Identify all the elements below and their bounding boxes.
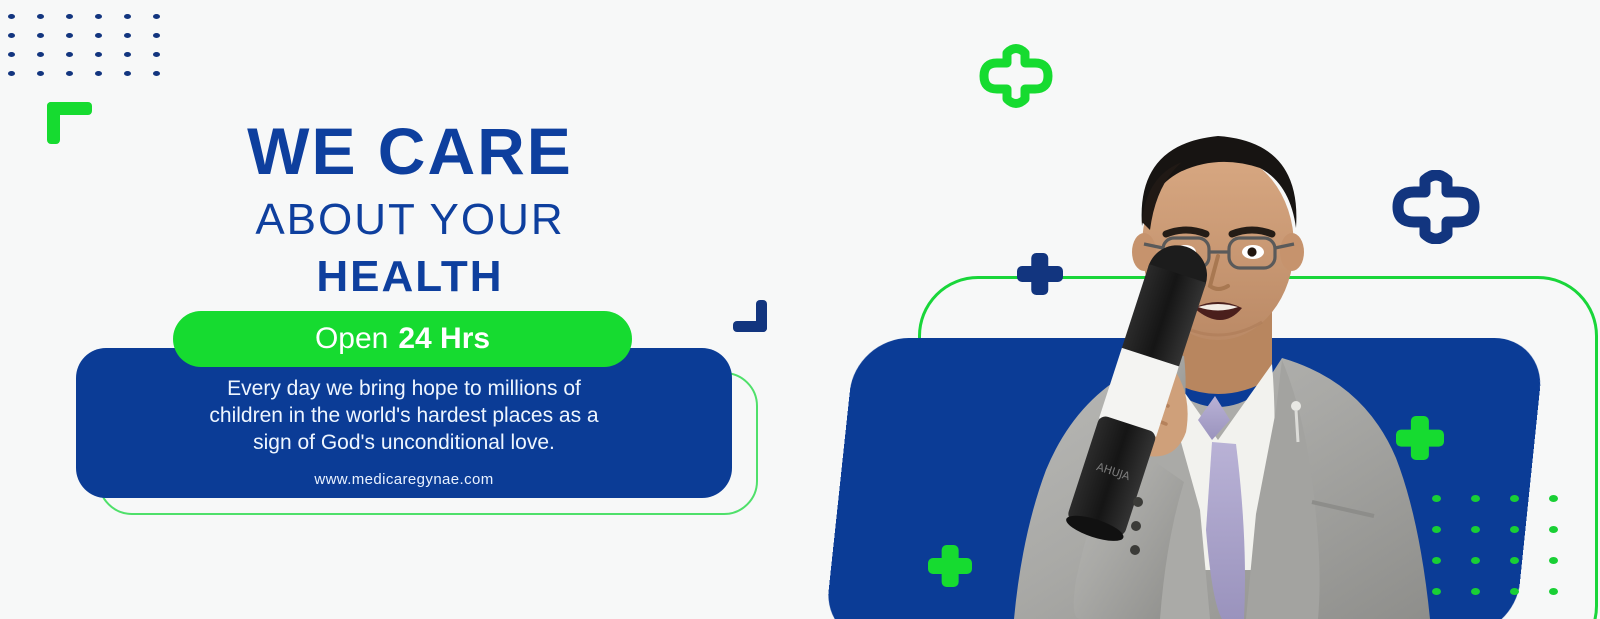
dot [37, 14, 44, 19]
dot [124, 33, 131, 38]
dot [1432, 588, 1441, 595]
medical-cross-green-icon [975, 44, 1057, 108]
dot [1510, 588, 1519, 595]
dot [1549, 588, 1558, 595]
dot [124, 14, 131, 19]
dot [37, 71, 44, 76]
plus-navy-icon [1017, 253, 1063, 295]
dot [1471, 588, 1480, 595]
dot [66, 14, 73, 19]
open-hours-value: 24 Hrs [398, 322, 490, 356]
dot [66, 33, 73, 38]
dot [153, 33, 160, 38]
website-url[interactable]: www.medicaregynae.com [108, 471, 700, 488]
dot [1549, 495, 1558, 502]
dot [95, 14, 102, 19]
dot [1471, 526, 1480, 533]
dot [153, 52, 160, 57]
dot [66, 52, 73, 57]
dot [37, 52, 44, 57]
dot [1471, 495, 1480, 502]
dot [1432, 495, 1441, 502]
dot [124, 71, 131, 76]
corner-bracket-navy-icon [733, 300, 767, 332]
dot [1471, 557, 1480, 564]
headline-line-2: ABOUT YOUR [100, 192, 720, 247]
dot [37, 33, 44, 38]
medical-cross-navy-icon [1388, 170, 1484, 244]
dot [124, 52, 131, 57]
headline-block: WE CARE ABOUT YOUR HEALTH [100, 118, 720, 304]
plus-green-right-icon [1396, 416, 1444, 460]
dot [1510, 495, 1519, 502]
headline-line-3: HEALTH [100, 251, 720, 304]
mission-statement: Every day we bring hope to millions of c… [108, 376, 700, 457]
dot [8, 14, 15, 19]
headline-line-1: WE CARE [100, 118, 720, 184]
dot [95, 33, 102, 38]
dot [153, 14, 160, 19]
dot [95, 71, 102, 76]
dot-grid-topleft [8, 14, 182, 90]
dot [8, 71, 15, 76]
dot [1510, 557, 1519, 564]
dot [1432, 526, 1441, 533]
healthcare-banner: AHUJA [0, 0, 1600, 619]
dot [8, 33, 15, 38]
mission-card: Every day we bring hope to millions of c… [76, 348, 732, 498]
dot [1549, 526, 1558, 533]
dot [66, 71, 73, 76]
dot [8, 52, 15, 57]
dot [1510, 526, 1519, 533]
dot-grid-bottomright [1432, 495, 1588, 619]
dot [153, 71, 160, 76]
dot [1432, 557, 1441, 564]
corner-bracket-green-icon [47, 102, 92, 144]
open-hours-badge[interactable]: Open 24 Hrs [173, 311, 632, 367]
dot [1549, 557, 1558, 564]
plus-green-bottom-icon [928, 545, 972, 587]
dot [95, 52, 102, 57]
open-hours-label: Open [315, 322, 388, 356]
